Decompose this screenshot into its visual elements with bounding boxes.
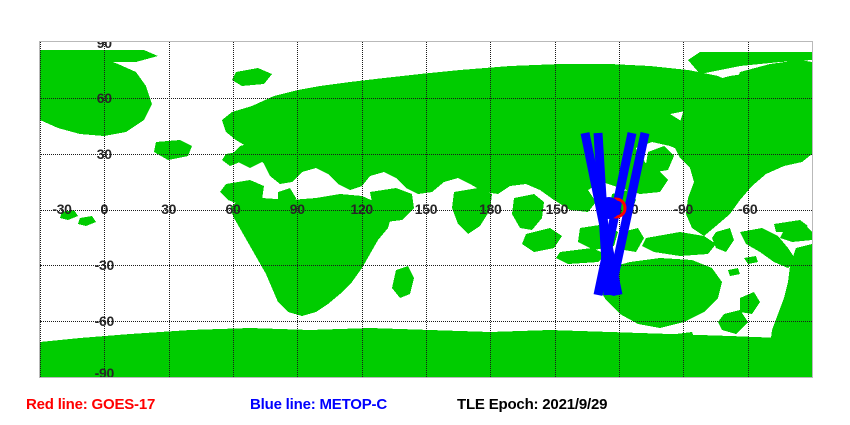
world-map-plot: -30 0 30 60 90 120 150 180 -150 -120 -90… bbox=[39, 41, 813, 378]
legend-blue-line: Blue line: METOP-C bbox=[250, 396, 387, 413]
metopc-marker bbox=[598, 197, 620, 219]
legend-footer: Red line: GOES-17 Blue line: METOP-C TLE… bbox=[0, 392, 850, 420]
legend-tle-epoch: TLE Epoch: 2021/9/29 bbox=[457, 396, 607, 413]
satellite-groundtrack-map: -30 0 30 60 90 120 150 180 -150 -120 -90… bbox=[0, 0, 850, 425]
satellite-track-layer bbox=[40, 42, 812, 377]
legend-red-line: Red line: GOES-17 bbox=[26, 396, 155, 413]
gridline-lon--30b bbox=[812, 42, 813, 377]
